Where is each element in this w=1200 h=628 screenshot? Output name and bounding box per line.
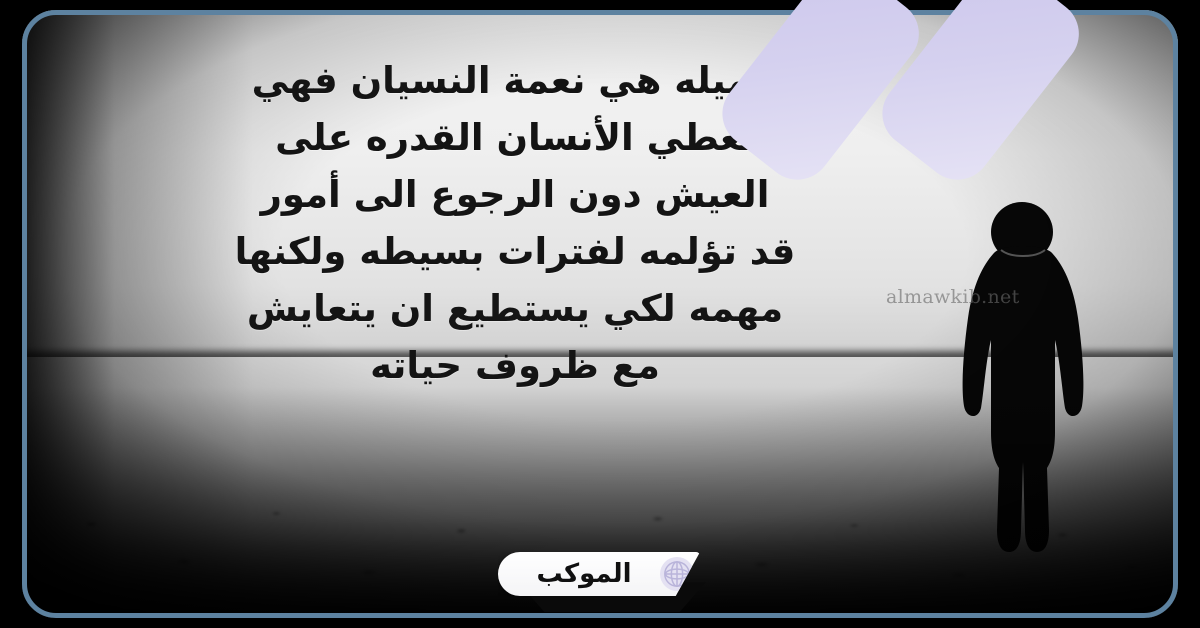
quote-line: تعطي الأنسان القدره على <box>60 109 970 166</box>
quote-line: مهمه لكي يستطيع ان يتعايش <box>60 280 970 337</box>
brand-badge[interactable]: الموكب <box>498 552 708 614</box>
quote-line: العيش دون الرجوع الى أمور <box>60 166 970 223</box>
quote-line: مع ظروف حياته <box>60 337 970 394</box>
badge-plate[interactable]: الموكب <box>498 552 700 596</box>
site-watermark: almawkib.net <box>886 286 1020 308</box>
quote-line: قد تؤلمه لفترات بسيطه ولكنها <box>60 223 970 280</box>
badge-label: الموكب <box>498 561 654 587</box>
quote-text-block: جميله هي نعمة النسيان فهي تعطي الأنسان ا… <box>60 52 970 394</box>
quote-card: جميله هي نعمة النسيان فهي تعطي الأنسان ا… <box>0 0 1200 628</box>
quote-line: جميله هي نعمة النسيان فهي <box>60 52 970 109</box>
